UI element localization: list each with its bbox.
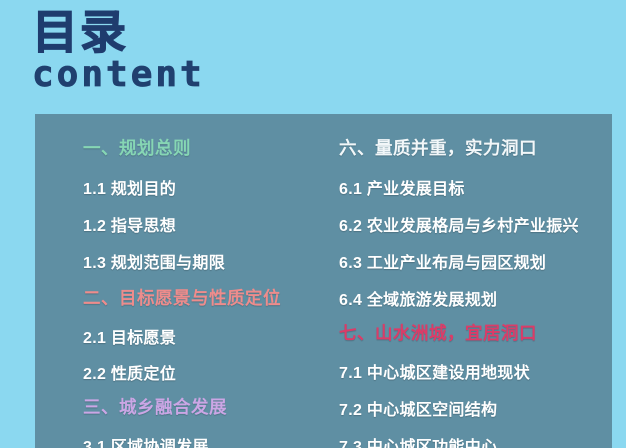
toc-section-heading[interactable]: 七、山水洲城，宜居洞口 <box>339 325 537 343</box>
toc-list-item[interactable]: 2.1 目标愿景 <box>83 331 176 347</box>
toc-list-item[interactable]: 3.1 区域协调发展 <box>83 440 209 448</box>
page-title-english: content <box>32 57 205 93</box>
toc-list-item[interactable]: 6.3 工业产业布局与园区规划 <box>339 256 546 272</box>
toc-section-heading[interactable]: 一、规划总则 <box>83 140 191 158</box>
table-of-contents-panel: 一、规划总则1.1 规划目的1.2 指导思想1.3 规划范围与期限二、目标愿景与… <box>35 114 612 448</box>
toc-section-heading[interactable]: 二、目标愿景与性质定位 <box>83 290 281 308</box>
toc-list-item[interactable]: 6.1 产业发展目标 <box>339 182 465 198</box>
toc-list-item[interactable]: 7.1 中心城区建设用地现状 <box>339 366 530 382</box>
toc-list-item[interactable]: 7.3 中心城区功能中心 <box>339 440 497 448</box>
toc-section-heading[interactable]: 三、城乡融合发展 <box>83 399 227 417</box>
toc-list-item[interactable]: 1.2 指导思想 <box>83 219 176 235</box>
slide-header: 目录 content <box>0 0 626 114</box>
toc-list-item[interactable]: 1.1 规划目的 <box>83 182 176 198</box>
toc-section-heading[interactable]: 六、量质并重，实力洞口 <box>339 140 537 158</box>
toc-list-item[interactable]: 2.2 性质定位 <box>83 367 176 383</box>
page-title-chinese: 目录 <box>32 8 128 58</box>
toc-list-item[interactable]: 7.2 中心城区空间结构 <box>339 403 497 419</box>
toc-list-item[interactable]: 6.2 农业发展格局与乡村产业振兴 <box>339 219 579 235</box>
toc-list-item[interactable]: 6.4 全域旅游发展规划 <box>339 293 497 309</box>
toc-column-right: 六、量质并重，实力洞口6.1 产业发展目标6.2 农业发展格局与乡村产业振兴6.… <box>297 114 612 448</box>
toc-list-item[interactable]: 1.3 规划范围与期限 <box>83 256 225 272</box>
toc-column-left: 一、规划总则1.1 规划目的1.2 指导思想1.3 规划范围与期限二、目标愿景与… <box>35 114 297 448</box>
